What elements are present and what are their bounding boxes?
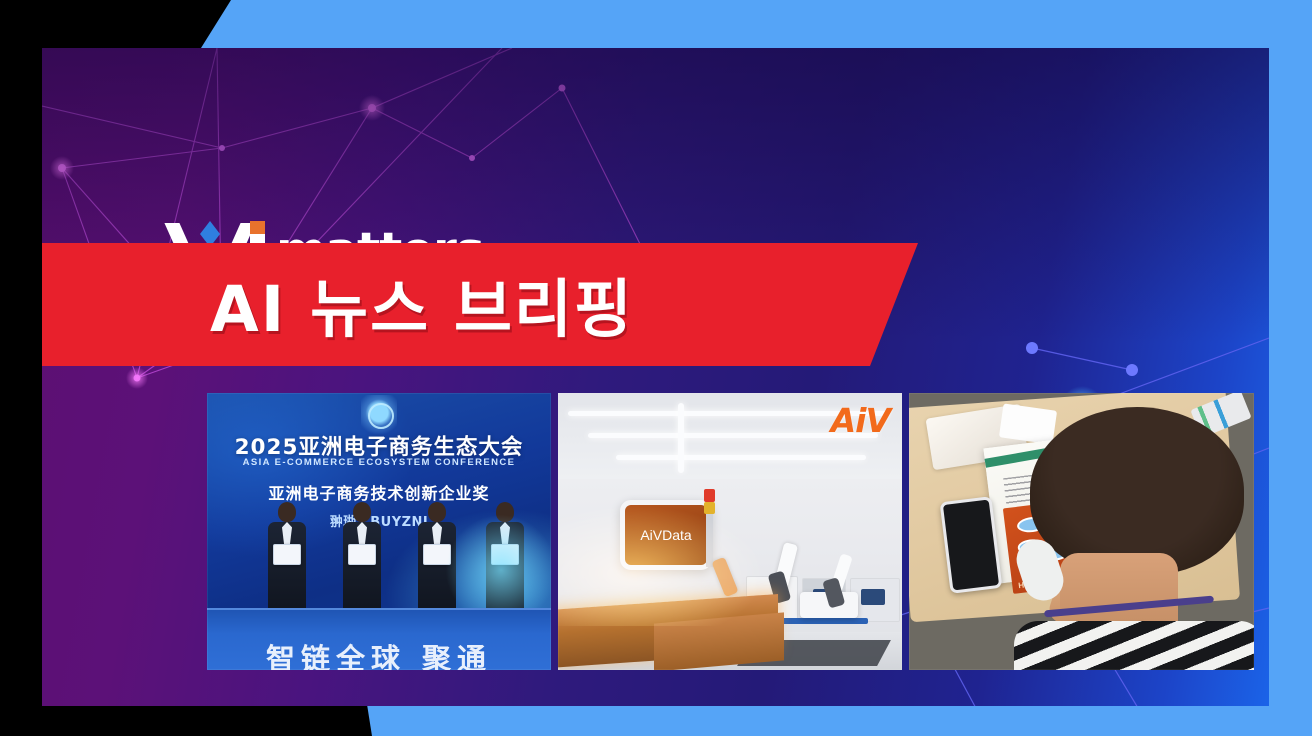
- award-recipient: [265, 502, 309, 614]
- ceiling-light: [616, 455, 866, 460]
- logo-square-dot-icon: [250, 221, 265, 235]
- student-figure: [1024, 407, 1254, 670]
- slide-card: matters AI 뉴스 브리핑 2025亚洲电子商务生态大会 ASIA E-…: [42, 48, 1269, 706]
- slide-canvas: matters AI 뉴스 브리핑 2025亚洲电子商务生态大会 ASIA E-…: [0, 0, 1312, 736]
- equipment-rail: [772, 618, 868, 624]
- frame-left-band: [0, 0, 42, 736]
- production-glow: [558, 496, 782, 626]
- aiv-logo: AiV: [831, 401, 890, 440]
- photo-student-craft[interactable]: HOUSE: [909, 393, 1254, 670]
- title-banner: AI 뉴스 브리핑: [42, 243, 918, 366]
- ceiling-pillar: [678, 403, 684, 473]
- page-title: AI 뉴스 브리핑: [210, 259, 634, 350]
- photo-smart-factory[interactable]: AiV AiVData: [558, 393, 902, 670]
- conference-headline-en: ASIA E-COMMERCE ECOSYSTEM CONFERENCE: [207, 457, 551, 468]
- conference-footer-cn: 智链全球 聚通: [207, 636, 551, 670]
- photo-conference-award[interactable]: 2025亚洲电子商务生态大会 ASIA E-COMMERCE ECOSYSTEM…: [207, 393, 551, 670]
- award-recipient: [340, 502, 384, 614]
- photo-strip: 2025亚洲电子商务生态大会 ASIA E-COMMERCE ECOSYSTEM…: [207, 393, 1254, 670]
- smartphone: [940, 496, 1003, 594]
